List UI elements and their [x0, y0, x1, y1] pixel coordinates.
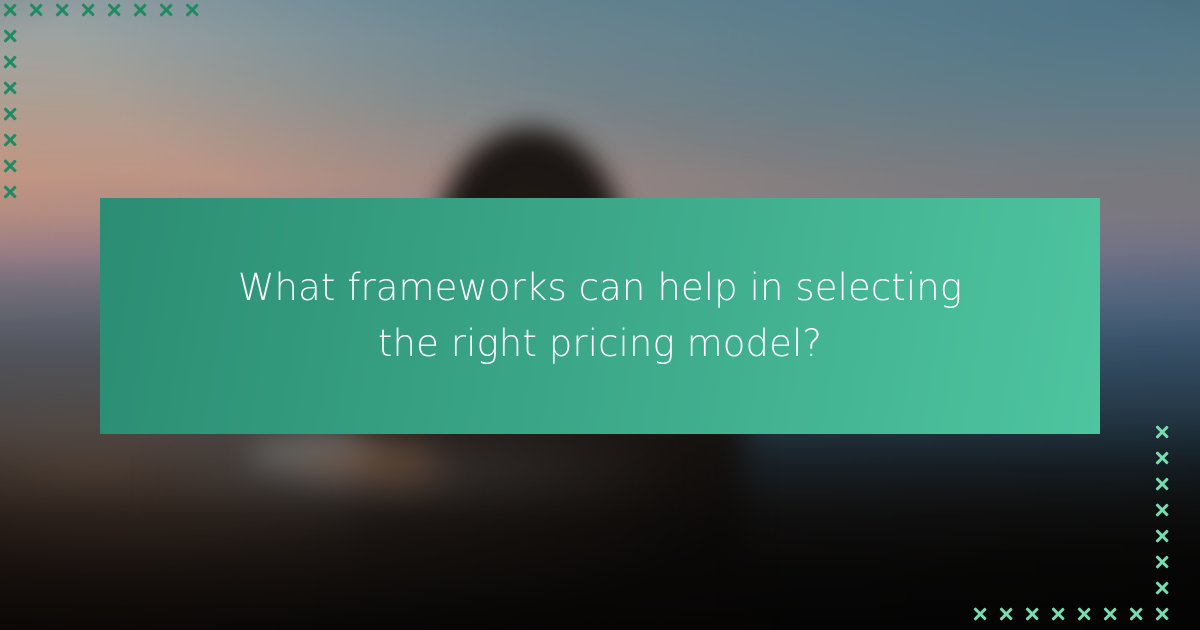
x-mark-icon — [1076, 606, 1092, 622]
x-mark-icon — [2, 132, 18, 148]
x-mark-icon — [1154, 606, 1170, 622]
x-mark-icon — [2, 106, 18, 122]
x-mark-icon — [1154, 450, 1170, 466]
decoration-x-grid-bottom-right — [972, 424, 1180, 630]
banner-title-text: What frameworks can help in selecting th… — [220, 260, 980, 372]
background-warm-blob-small — [360, 456, 456, 490]
x-mark-icon — [2, 2, 18, 18]
x-mark-icon — [1154, 502, 1170, 518]
x-mark-icon — [2, 184, 18, 200]
x-mark-icon — [972, 606, 988, 622]
x-mark-icon — [2, 158, 18, 174]
x-mark-icon — [1024, 606, 1040, 622]
x-mark-icon — [2, 54, 18, 70]
social-share-card: What frameworks can help in selecting th… — [0, 0, 1200, 630]
x-mark-icon — [132, 2, 148, 18]
x-mark-icon — [1050, 606, 1066, 622]
x-mark-icon — [1154, 580, 1170, 596]
x-mark-icon — [998, 606, 1014, 622]
x-mark-icon — [1102, 606, 1118, 622]
x-mark-icon — [1154, 528, 1170, 544]
x-mark-icon — [28, 2, 44, 18]
x-mark-icon — [1154, 476, 1170, 492]
title-banner: What frameworks can help in selecting th… — [100, 198, 1100, 434]
x-mark-icon — [1128, 606, 1144, 622]
x-mark-icon — [54, 2, 70, 18]
x-mark-icon — [2, 80, 18, 96]
decoration-x-grid-top-left — [2, 2, 210, 210]
x-mark-icon — [184, 2, 200, 18]
x-mark-icon — [2, 28, 18, 44]
x-mark-icon — [1154, 554, 1170, 570]
x-mark-icon — [106, 2, 122, 18]
x-mark-icon — [1154, 424, 1170, 440]
x-mark-icon — [158, 2, 174, 18]
x-mark-icon — [80, 2, 96, 18]
